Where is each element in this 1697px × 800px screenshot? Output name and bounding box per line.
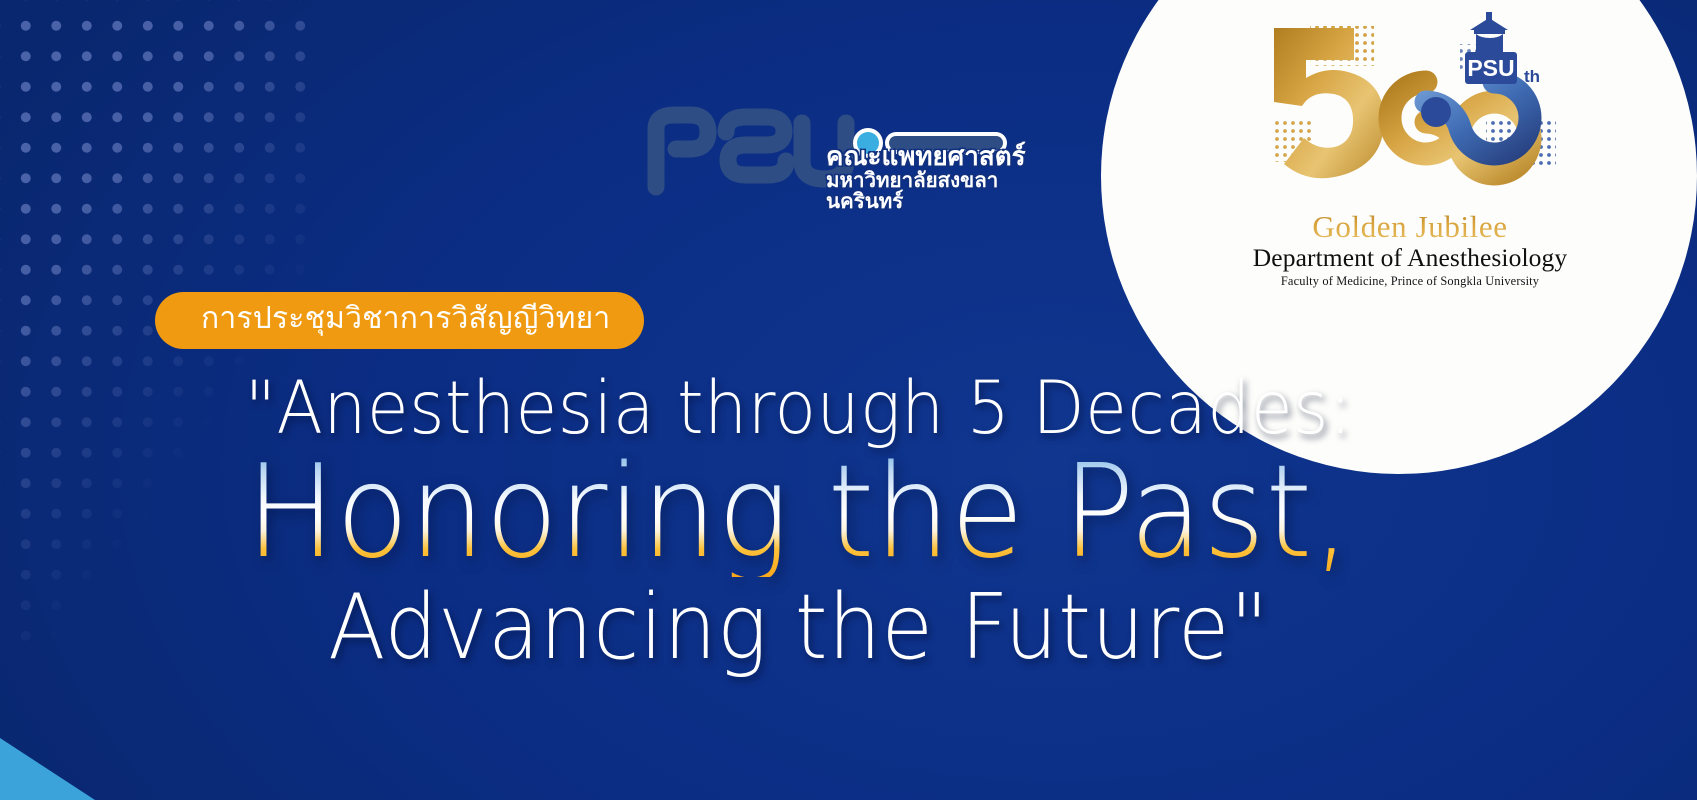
golden-jubilee-logo: PSU th Golden Jubilee Department of Anes… xyxy=(1180,8,1640,288)
psu-logo: คณะแพทยศาสตร์ มหาวิทยาลัยสงขลานครินทร์ xyxy=(642,105,1042,200)
headline-line-3: Advancing the Future" xyxy=(56,583,1541,673)
svg-text:th: th xyxy=(1524,67,1540,86)
headline-line-2: Honoring the Past, xyxy=(56,449,1541,577)
psu-faculty-th: คณะแพทยศาสตร์ xyxy=(826,143,1042,169)
jubilee-logo-text: Golden Jubilee Department of Anesthesiol… xyxy=(1253,211,1567,289)
department-label: Department of Anesthesiology xyxy=(1253,244,1567,272)
psu-thai-text: คณะแพทยศาสตร์ มหาวิทยาลัยสงขลานครินทร์ xyxy=(826,143,1042,212)
corner-triangle-decoration xyxy=(0,738,95,800)
conference-banner: คณะแพทยศาสตร์ มหาวิทยาลัยสงขลานครินทร์ xyxy=(0,0,1697,800)
headline-block: "Anesthesia through 5 Decades: Honoring … xyxy=(0,372,1697,673)
psu-tower-icon: PSU th xyxy=(1465,12,1540,86)
thai-conference-badge: การประชุมวิชาการวิสัญญีวิทยา xyxy=(155,292,644,349)
golden-jubilee-label: Golden Jubilee xyxy=(1253,211,1567,243)
psu-university-th: มหาวิทยาลัยสงขลานครินทร์ xyxy=(826,171,1042,212)
faculty-label: Faculty of Medicine, Prince of Songkla U… xyxy=(1253,274,1567,289)
svg-text:PSU: PSU xyxy=(1467,55,1514,81)
jubilee-50-mark-icon: PSU th xyxy=(1250,8,1580,213)
headline-line-1: "Anesthesia through 5 Decades: xyxy=(56,372,1541,445)
